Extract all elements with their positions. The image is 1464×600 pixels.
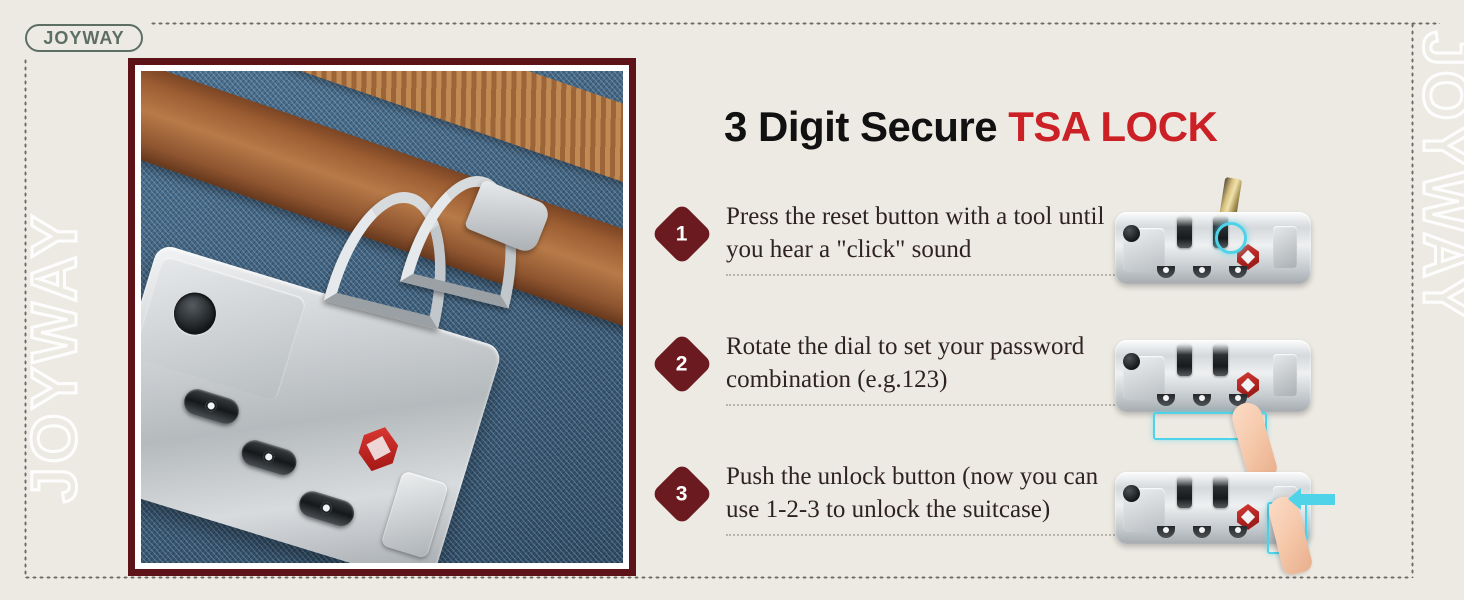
mini-dial-1	[1157, 394, 1175, 406]
mini-dial-2	[1193, 526, 1211, 538]
mini-release-button	[1273, 354, 1297, 396]
mini-dial-1	[1157, 266, 1175, 278]
dotted-border-top	[150, 22, 1440, 25]
mini-keyhole-icon	[1123, 485, 1140, 502]
combination-dial-1	[181, 386, 242, 427]
step-number-2: 2	[676, 354, 688, 375]
mini-tab-1	[1177, 476, 1192, 508]
mini-dial-2	[1193, 394, 1211, 406]
highlight-reset-button	[1215, 222, 1247, 254]
mini-tab-2	[1213, 344, 1228, 376]
page-title-primary: 3 Digit Secure	[724, 103, 1008, 150]
product-photo	[141, 71, 623, 563]
mini-lock-1	[1115, 212, 1311, 284]
product-photo-frame	[128, 58, 636, 576]
step-badge-1: 1	[651, 203, 713, 265]
step-number-1: 1	[676, 224, 688, 245]
mini-lock-2	[1115, 340, 1311, 412]
brand-logo: JOYWAY	[25, 24, 143, 52]
mini-tab-1	[1177, 216, 1192, 248]
mini-keyhole-icon	[1123, 353, 1140, 370]
brand-watermark-left: JOYWAY	[17, 211, 91, 503]
arrow-left-icon	[1301, 494, 1335, 505]
tsa-diamond-icon	[354, 422, 402, 477]
combination-dial-2	[239, 437, 300, 478]
mini-dial-2	[1193, 266, 1211, 278]
mini-release-button	[1273, 226, 1297, 268]
step-badge-3: 3	[651, 463, 713, 525]
mini-dial-3	[1229, 526, 1247, 538]
step-text-2: Rotate the dial to set your password com…	[726, 330, 1118, 406]
mini-tab-2	[1213, 476, 1228, 508]
mini-tab-1	[1177, 344, 1192, 376]
page-title-accent: TSA LOCK	[1008, 103, 1217, 150]
step-illustration-2	[1105, 318, 1345, 428]
step-text-1: Press the reset button with a tool until…	[726, 200, 1118, 276]
step-illustration-3	[1105, 450, 1345, 560]
mini-dial-3	[1229, 266, 1247, 278]
photo-mat	[135, 65, 629, 569]
combination-dial-3	[296, 488, 357, 529]
dotted-border-left	[24, 58, 27, 578]
release-button	[380, 470, 449, 559]
step-illustration-1	[1105, 190, 1345, 300]
mini-dial-1	[1157, 526, 1175, 538]
page-title: 3 Digit Secure TSA LOCK	[724, 106, 1217, 148]
brand-wordmark: JOYWAY	[43, 29, 124, 47]
mini-keyhole-icon	[1123, 225, 1140, 242]
step-number-3: 3	[676, 484, 688, 505]
step-badge-2: 2	[651, 333, 713, 395]
step-text-3: Push the unlock button (now you can use …	[726, 460, 1118, 536]
